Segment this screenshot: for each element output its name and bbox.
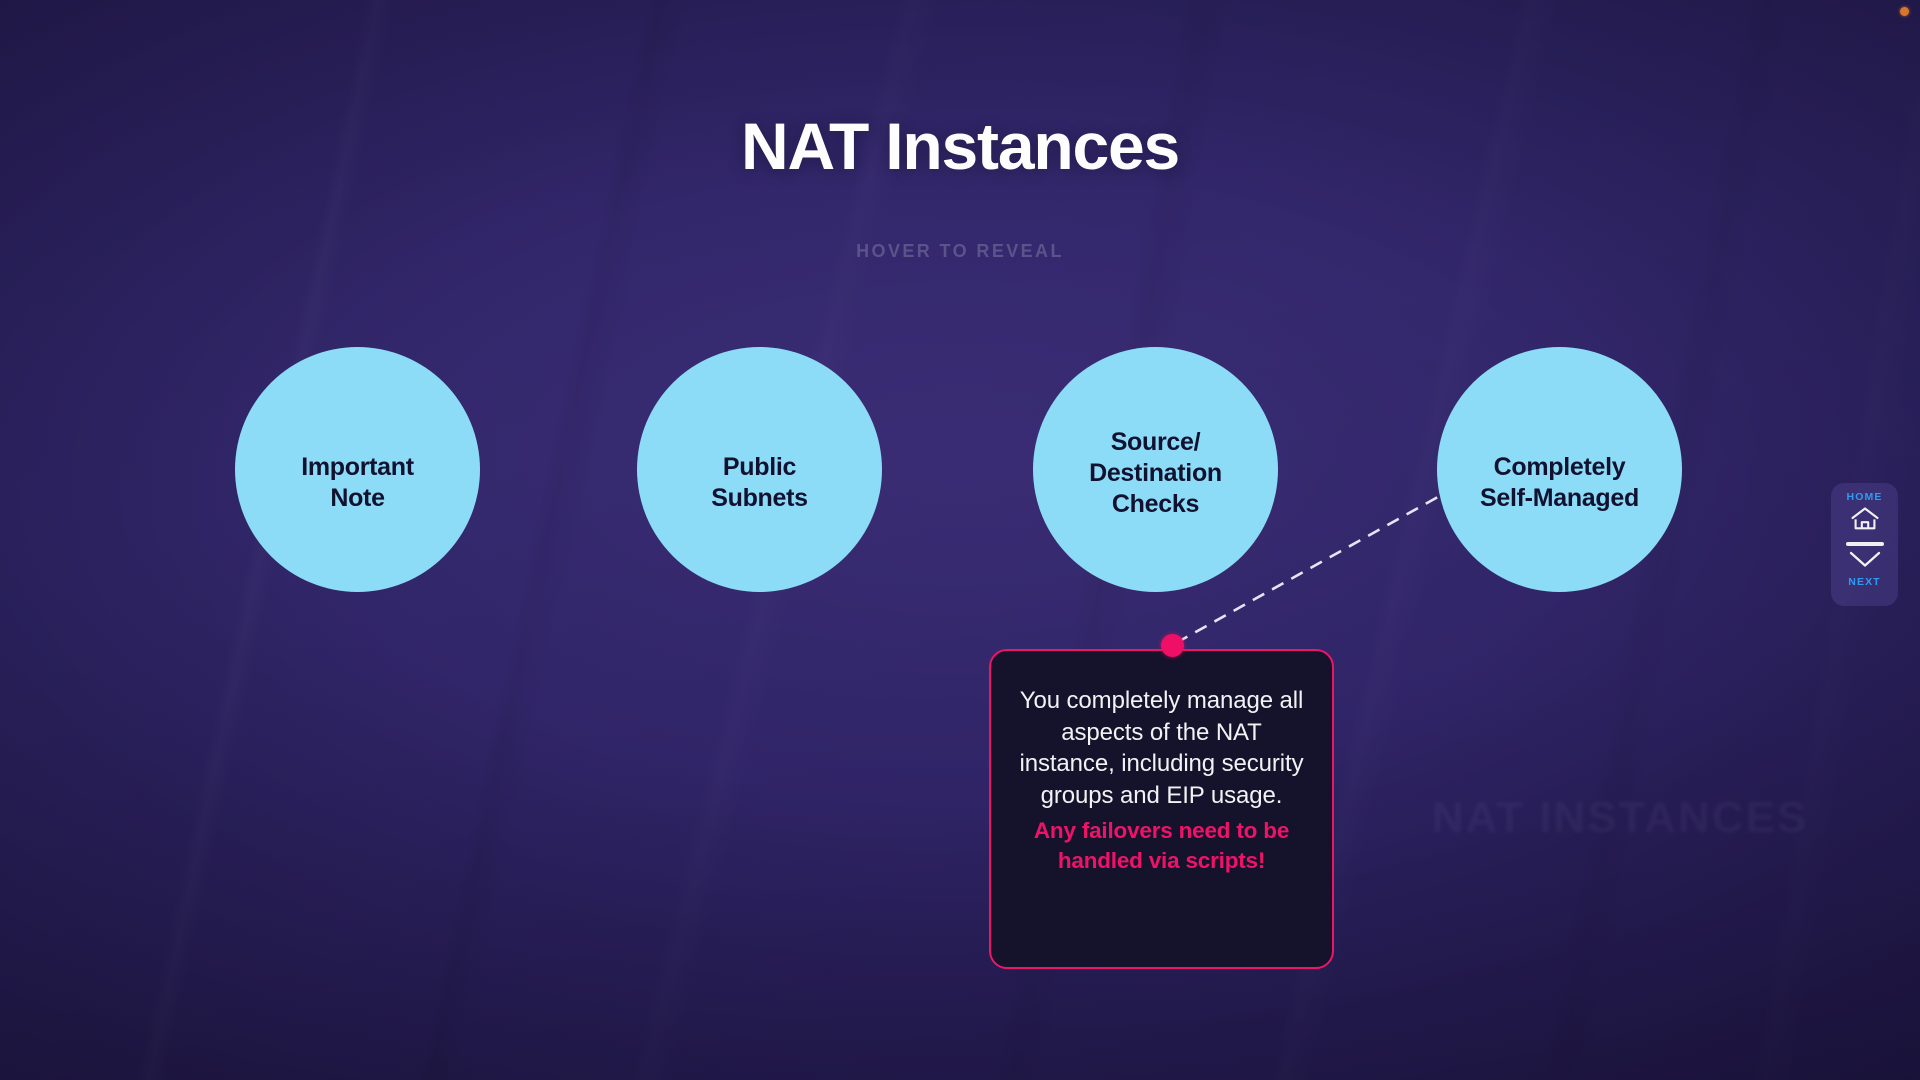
tooltip-body-text: You completely manage all aspects of the… [1017,685,1306,876]
nav-next-button[interactable]: NEXT [1848,550,1882,588]
node-label: Public Subnets [711,452,808,514]
node-label: Important Note [301,452,414,514]
node-circle-source-destination-checks[interactable]: Source/ Destination Checks [1033,347,1278,592]
node-circle-important-note[interactable]: Important Note [235,347,480,592]
node-label: Source/ Destination Checks [1089,427,1222,519]
home-icon [1850,506,1880,536]
corner-indicator-dot [1900,7,1909,16]
nav-next-label: NEXT [1848,576,1880,588]
node-circle-completely-self-managed[interactable]: Completely Self-Managed [1437,347,1682,592]
tooltip-warning-text: Any failovers need to be handled via scr… [1017,816,1306,876]
tooltip-body-sentence: You completely manage all aspects of the… [1019,687,1303,809]
tooltip-anchor-dot [1161,634,1184,657]
page-title: NAT Instances [0,108,1920,184]
nav-home-button[interactable]: HOME [1847,491,1883,536]
chevron-down-icon [1848,550,1882,574]
background-watermark: NAT INSTANCES [1380,790,1860,1020]
page-subtitle: HOVER TO REVEAL [0,241,1920,262]
node-circle-public-subnets[interactable]: Public Subnets [637,347,882,592]
nav-divider [1846,542,1884,546]
node-label: Completely Self-Managed [1480,452,1639,514]
reveal-tooltip-card: You completely manage all aspects of the… [989,649,1334,969]
nav-home-label: HOME [1847,491,1883,503]
slide-navigation-pill: HOME NEXT [1831,483,1898,606]
